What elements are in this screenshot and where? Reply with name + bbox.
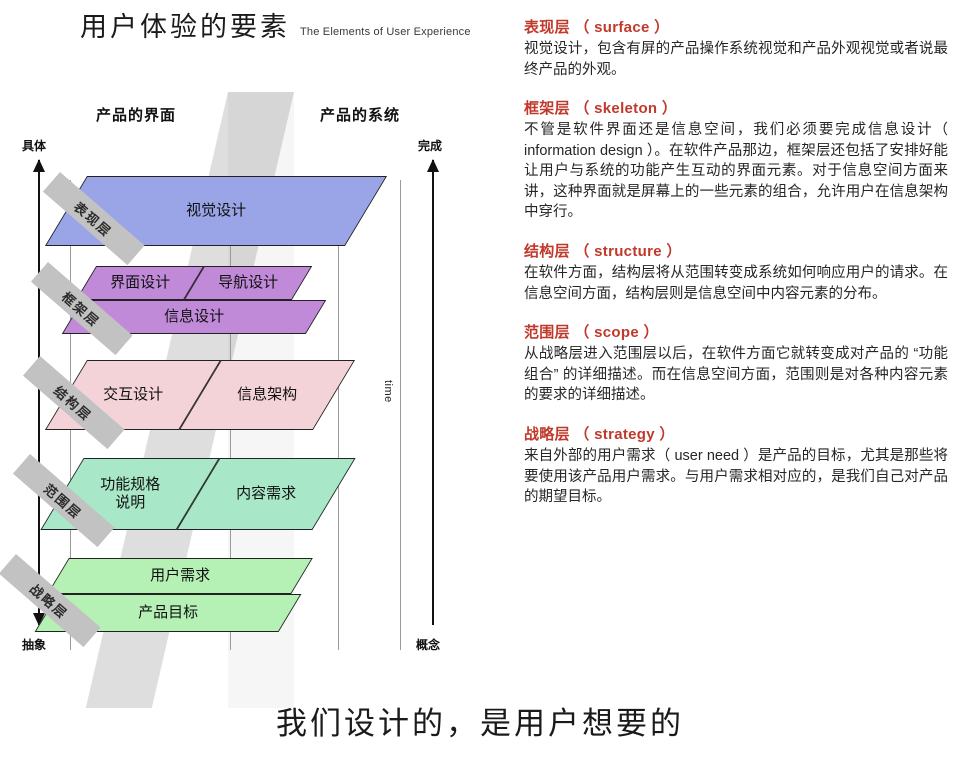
axis-label-concrete: 具体 (22, 137, 46, 154)
layer-cell-label: 视觉设计 (186, 202, 246, 220)
axis-shaft (432, 160, 434, 625)
title-chinese: 用户体验的要素 (80, 14, 290, 41)
note-title-en: （ surface ） (570, 19, 669, 36)
layer-cell-label: 用户需求 (150, 567, 210, 585)
layer-cell-label: 内容需求 (236, 485, 296, 503)
note-body: 从战略层进入范围层以后，在软件方面它就转变成对产品的 “功能组合” 的详细描述。… (524, 344, 948, 406)
note-title-en: （ scope ） (570, 324, 659, 341)
note-body: 来自外部的用户需求（ user need ）是产品的目标，尤其是那些将要使用该产… (524, 446, 948, 508)
layer-cell-label: 产品目标 (138, 604, 198, 622)
note-title-cn: 范围层 (524, 324, 570, 341)
bottom-caption: 我们设计的，是用户想要的 (0, 698, 960, 743)
axis-label-abstract: 抽象 (22, 636, 46, 653)
note-title-cn: 结构层 (524, 243, 570, 260)
column-header-system: 产品的系统 (320, 104, 400, 125)
axis-label-concept: 概念 (416, 636, 440, 653)
note-section: 范围层 （ scope ）从战略层进入范围层以后，在软件方面它就转变成对产品的 … (524, 321, 948, 406)
note-section: 结构层 （ structure ）在软件方面，结构层将从范围转变成系统如何响应用… (524, 240, 948, 304)
note-title-cn: 框架层 (524, 100, 570, 117)
note-body: 视觉设计，包含有屏的产品操作系统视觉和产品外观视觉或者说最终产品的外观。 (524, 39, 948, 80)
note-heading: 表现层 （ surface ） (524, 16, 948, 37)
notes-panel: 表现层 （ surface ）视觉设计，包含有屏的产品操作系统视觉和产品外观视觉… (524, 16, 948, 525)
guide-line-right (338, 180, 339, 650)
layer-cell-label: 交互设计 (103, 386, 163, 404)
note-section: 框架层 （ skeleton ）不管是软件界面还是信息空间，我们必须要完成信息设… (524, 97, 948, 223)
note-heading: 战略层 （ strategy ） (524, 423, 948, 444)
axis-label-done: 完成 (418, 137, 442, 154)
layer-cell[interactable]: 界面设计 (76, 266, 204, 300)
note-heading: 结构层 （ structure ） (524, 240, 948, 261)
note-title-en: （ structure ） (570, 243, 682, 260)
column-header-interface: 产品的界面 (96, 104, 176, 125)
arrow-head-up-icon (427, 159, 439, 172)
arrow-head-up-icon (33, 159, 45, 172)
note-title-en: （ skeleton ） (570, 100, 677, 117)
guide-line-far-right (400, 180, 401, 650)
note-body: 不管是软件界面还是信息空间，我们必须要完成信息设计（ information d… (524, 120, 948, 223)
layer-cell-label: 导航设计 (218, 274, 278, 292)
page-title: 用户体验的要素 The Elements of User Experience (80, 14, 471, 41)
title-english: The Elements of User Experience (300, 26, 471, 38)
layer-cell-label: 界面设计 (110, 274, 170, 292)
axis-shaft (38, 160, 40, 625)
ux-elements-diagram: 产品的界面 产品的系统 具体 抽象 完成 概念 time 视觉设计表现层界面设计… (0, 80, 510, 660)
note-body: 在软件方面，结构层将从范围转变成系统如何响应用户的请求。在信息空间方面，结构层则… (524, 263, 948, 304)
layer-cell-label: 功能规格 说明 (100, 476, 160, 511)
note-section: 战略层 （ strategy ）来自外部的用户需求（ user need ）是产… (524, 423, 948, 508)
note-title-cn: 表现层 (524, 19, 570, 36)
layer-cell-label: 信息设计 (164, 308, 224, 326)
note-title-cn: 战略层 (524, 426, 570, 443)
layer-cell[interactable]: 用户需求 (47, 558, 313, 594)
note-heading: 框架层 （ skeleton ） (524, 97, 948, 118)
axis-label-time: time (382, 380, 394, 403)
layer-cell[interactable]: 导航设计 (184, 266, 312, 300)
note-section: 表现层 （ surface ）视觉设计，包含有屏的产品操作系统视觉和产品外观视觉… (524, 16, 948, 80)
note-title-en: （ strategy ） (570, 426, 675, 443)
note-heading: 范围层 （ scope ） (524, 321, 948, 342)
layer-cell-label: 信息架构 (237, 386, 297, 404)
